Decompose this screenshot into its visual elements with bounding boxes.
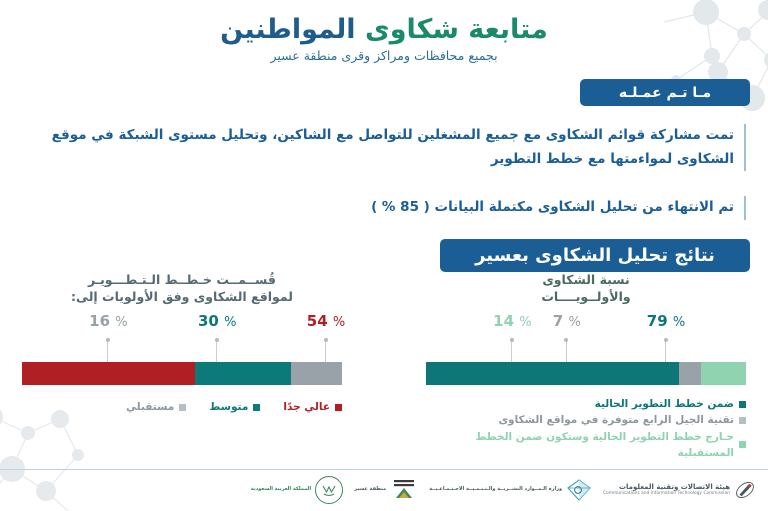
logo-hrsd-arabic: وزارة الـمــوارد البشــريــة والـتـنـمـي… <box>429 487 562 492</box>
chart-priorities-title: قُســمــت خـطــط الـتـطـــويـر لمواقع ال… <box>22 272 342 308</box>
chart-complaints-ratio: نسبة الشكاوى والأولــويــــات % 14 % 7 %… <box>426 272 746 452</box>
logo-cstc: هيئة الاتصالات وتقنية المعلومات Communic… <box>603 479 756 501</box>
logo-cstc-text: هيئة الاتصالات وتقنية المعلومات Communic… <box>603 484 730 496</box>
paragraph-work-done: تمت مشاركة قوائم الشكاوى مع جميع المشغلي… <box>28 124 746 171</box>
page-title: متابعة شكاوى المواطنين <box>0 14 768 45</box>
page-header: متابعة شكاوى المواطنين بجميع محافظات ومر… <box>0 14 768 63</box>
chart-complaints-value-outside-plans: % 14 <box>493 312 531 330</box>
chart-complaints-value-labels: % 14 % 7 % 79 <box>426 312 746 338</box>
badge-what-was-done: مـا تـم عمـلـه <box>580 79 750 106</box>
logo-saudi-seal: المملكة العربية السعودية <box>251 476 343 504</box>
chart-priorities-value-medium: % 30 <box>198 312 236 330</box>
chart-priorities-value-labels: % 16 % 30 % 54 <box>22 312 342 338</box>
chart-priorities-segment-medium <box>195 362 291 385</box>
chart-priorities-leader-lines <box>22 338 342 362</box>
logo-saudi-arabic: المملكة العربية السعودية <box>251 487 311 492</box>
legend-swatch-medium <box>253 404 260 411</box>
legend-swatch-within-plans <box>739 401 746 408</box>
logo-cstc-english: Communications and Information Technolog… <box>603 491 730 495</box>
legend-item-medium: متوسط <box>209 399 260 415</box>
chart-complaints-value-within-plans: % 79 <box>647 312 685 330</box>
chart-complaints-segment-outside-plans <box>701 362 746 385</box>
logo-asir-text: منطقة عسير <box>354 487 386 492</box>
chart-complaints-legend: ضمن خطط التطوير الحالية تقنية الجيل الرا… <box>426 396 746 461</box>
chart-complaints-title-line1: نسبة الشكاوى <box>426 272 746 289</box>
chart-complaints-segment-4g <box>679 362 701 385</box>
legend-label-future: مستقبلي <box>126 399 174 415</box>
legend-label-high: عالي جدًا <box>283 399 330 415</box>
page-title-accent: متابعة شكاوى <box>365 14 548 45</box>
emirate-icon <box>390 478 418 502</box>
chart-priorities-title-line2: لمواقع الشكاوى وفق الأولويات إلى: <box>22 289 342 306</box>
logo-hrsd: وزارة الـمــوارد البشــريــة والـتـنـمـي… <box>429 478 592 502</box>
chart-priorities-stacked-bar <box>22 362 342 385</box>
legend-item-4g: تقنية الجيل الرابع متوفرة في مواقع الشكا… <box>426 412 746 428</box>
legend-item-future: مستقبلي <box>126 399 186 415</box>
page-title-main: المواطنين <box>220 14 355 45</box>
logo-hrsd-text: وزارة الـمــوارد البشــريــة والـتـنـمـي… <box>429 487 562 492</box>
legend-item-outside-plans: خـارج خطط التطوير الحالية وستكون ضمن الخ… <box>426 429 746 462</box>
legend-label-medium: متوسط <box>209 399 248 415</box>
chart-complaints-stacked-bar <box>426 362 746 385</box>
chart-complaints-title-line2: والأولــويــــات <box>426 289 746 306</box>
cstc-pen-icon <box>734 479 756 501</box>
chart-complaints-title: نسبة الشكاوى والأولــويــــات <box>426 272 746 308</box>
footer: هيئة الاتصالات وتقنية المعلومات Communic… <box>0 467 768 507</box>
legend-swatch-future <box>179 404 186 411</box>
footer-logos: هيئة الاتصالات وتقنية المعلومات Communic… <box>251 476 756 504</box>
saudi-seal-icon <box>315 476 343 504</box>
page-subtitle: بجميع محافظات ومراكز وقرى منطقة عسير <box>0 48 768 63</box>
legend-label-outside-plans: خـارج خطط التطوير الحالية وستكون ضمن الخ… <box>426 429 734 462</box>
chart-priorities-value-high: % 54 <box>307 312 345 330</box>
chart-priorities-legend: عالي جدًا متوسط مستقبلي <box>22 396 342 416</box>
legend-swatch-high <box>335 404 342 411</box>
chart-priorities-title-line1: قُســمــت خـطــط الـتـطـــويـر <box>22 272 342 289</box>
logo-asir-arabic: منطقة عسير <box>354 487 386 492</box>
chart-priorities-segment-future <box>291 362 342 385</box>
legend-swatch-outside-plans <box>739 441 746 448</box>
paragraph-analysis-complete: تم الانتهاء من تحليل الشكاوى مكتملة البي… <box>28 196 746 220</box>
badge-results-asir: نتائج تحليل الشكاوى بعسير <box>440 239 750 272</box>
legend-swatch-4g <box>739 417 746 424</box>
chart-priorities-segment-high <box>22 362 195 385</box>
chart-complaints-value-4g: % 7 <box>553 312 581 330</box>
logo-saudi-text: المملكة العربية السعودية <box>251 487 311 492</box>
chart-priorities-value-future: % 16 <box>89 312 127 330</box>
legend-item-high: عالي جدًا <box>283 399 342 415</box>
chart-complaints-leader-lines <box>426 338 746 362</box>
legend-label-within-plans: ضمن خطط التطوير الحالية <box>595 396 734 412</box>
infographic-page: متابعة شكاوى المواطنين بجميع محافظات ومر… <box>0 0 768 511</box>
chart-priorities: قُســمــت خـطــط الـتـطـــويـر لمواقع ال… <box>22 272 342 452</box>
legend-label-4g: تقنية الجيل الرابع متوفرة في مواقع الشكا… <box>498 412 734 428</box>
logo-asir-emirate: منطقة عسير <box>354 478 418 502</box>
chart-complaints-segment-within-plans <box>426 362 679 385</box>
diamond-icon <box>566 478 592 502</box>
legend-item-within-plans: ضمن خطط التطوير الحالية <box>426 396 746 412</box>
